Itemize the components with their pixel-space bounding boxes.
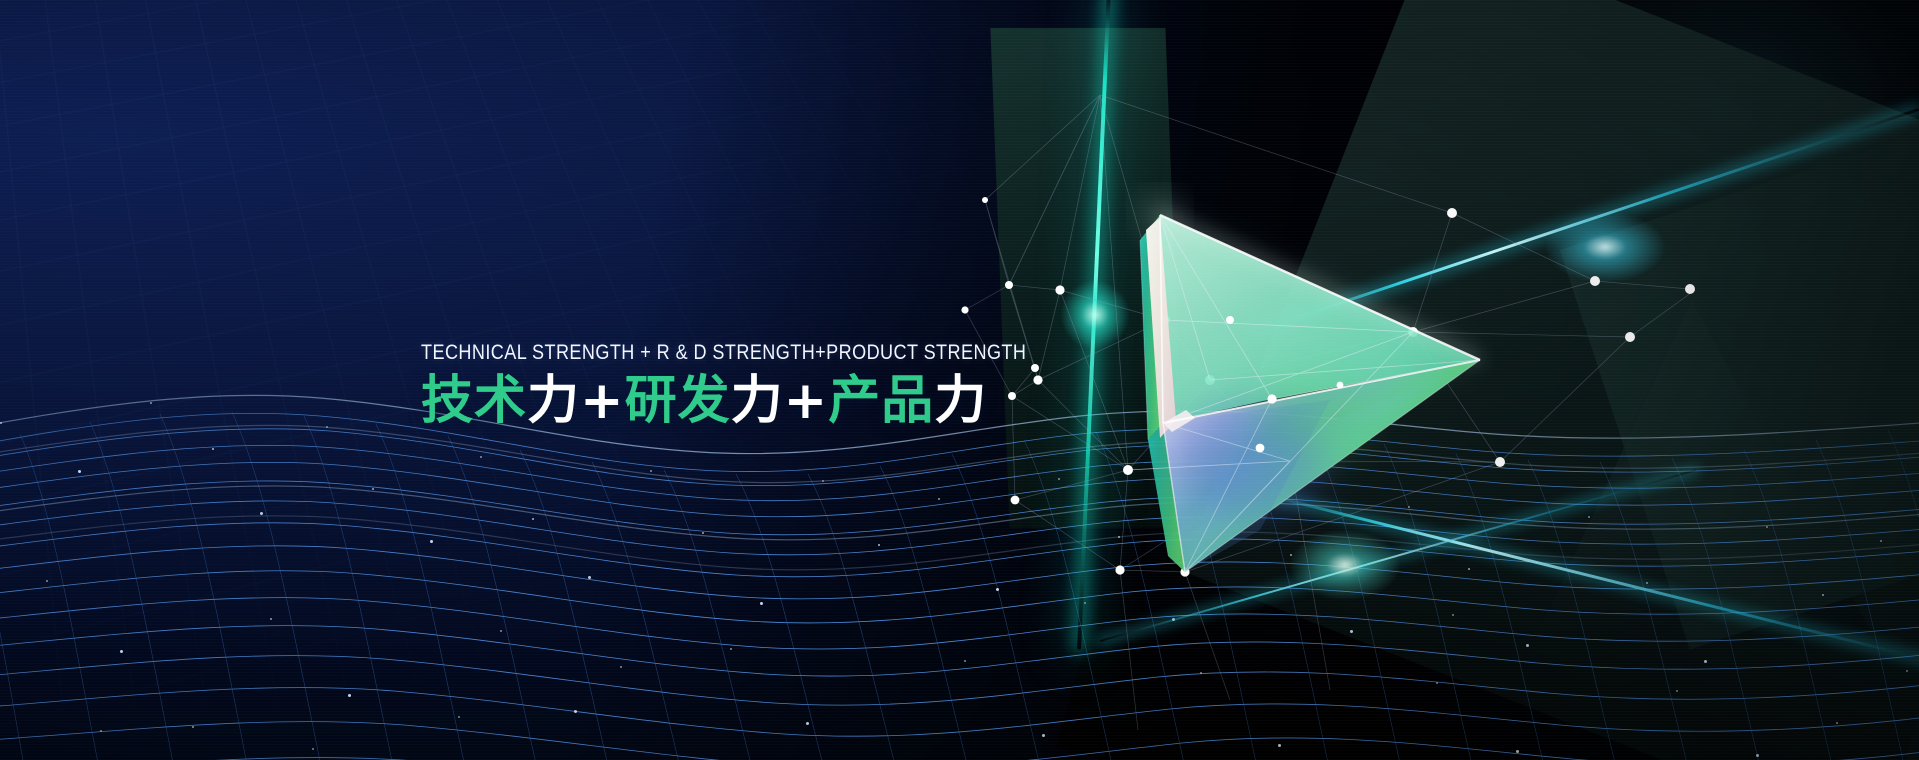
hero-banner: TECHNICAL STRENGTH + R & D STRENGTH+PROD… [0,0,1919,760]
vignette-overlay [0,0,1919,760]
